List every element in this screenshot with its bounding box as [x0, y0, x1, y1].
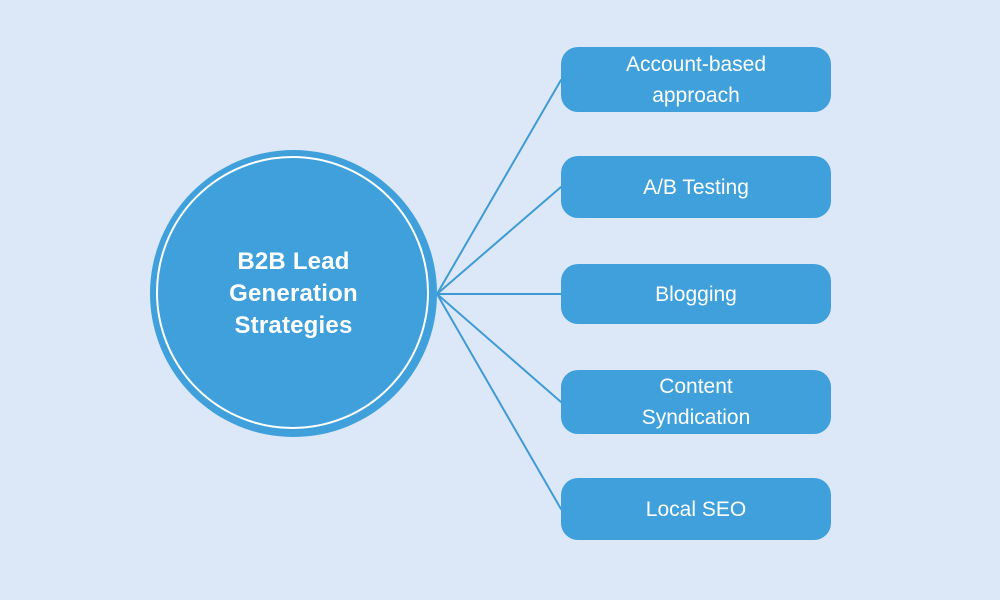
branch-node-label: Blogging: [655, 279, 737, 310]
branch-node-local-seo[interactable]: Local SEO: [561, 478, 831, 540]
branch-node-account-based-approach[interactable]: Account-based approach: [561, 47, 831, 112]
branch-node-label: Content Syndication: [642, 371, 751, 433]
connector-line: [437, 294, 561, 402]
branch-label-line-1: A/B Testing: [643, 176, 749, 199]
branch-label-line-2: Syndication: [642, 406, 751, 429]
hub-label-line-3: Strategies: [234, 312, 352, 339]
branch-node-content-syndication[interactable]: Content Syndication: [561, 370, 831, 434]
connector-line: [437, 80, 561, 294]
branch-label-line-1: Content: [659, 375, 733, 398]
diagram-canvas: B2B Lead Generation Strategies Account-b…: [0, 0, 1000, 600]
branch-label-line-1: Local SEO: [646, 498, 746, 521]
connector-line: [437, 187, 561, 294]
branch-node-label: Account-based approach: [626, 49, 766, 111]
connector-line: [437, 294, 561, 509]
hub-node-label: B2B Lead Generation Strategies: [203, 246, 384, 342]
hub-node-b2b-lead-generation-strategies[interactable]: B2B Lead Generation Strategies: [150, 150, 437, 437]
branch-label-line-1: Blogging: [655, 283, 737, 306]
branch-node-label: Local SEO: [646, 494, 746, 525]
branch-label-line-2: approach: [652, 84, 740, 107]
branch-label-line-1: Account-based: [626, 53, 766, 76]
branch-node-blogging[interactable]: Blogging: [561, 264, 831, 324]
hub-label-line-2: Generation: [229, 280, 358, 307]
branch-node-label: A/B Testing: [643, 172, 749, 203]
hub-label-line-1: B2B Lead: [237, 248, 349, 275]
branch-node-ab-testing[interactable]: A/B Testing: [561, 156, 831, 218]
